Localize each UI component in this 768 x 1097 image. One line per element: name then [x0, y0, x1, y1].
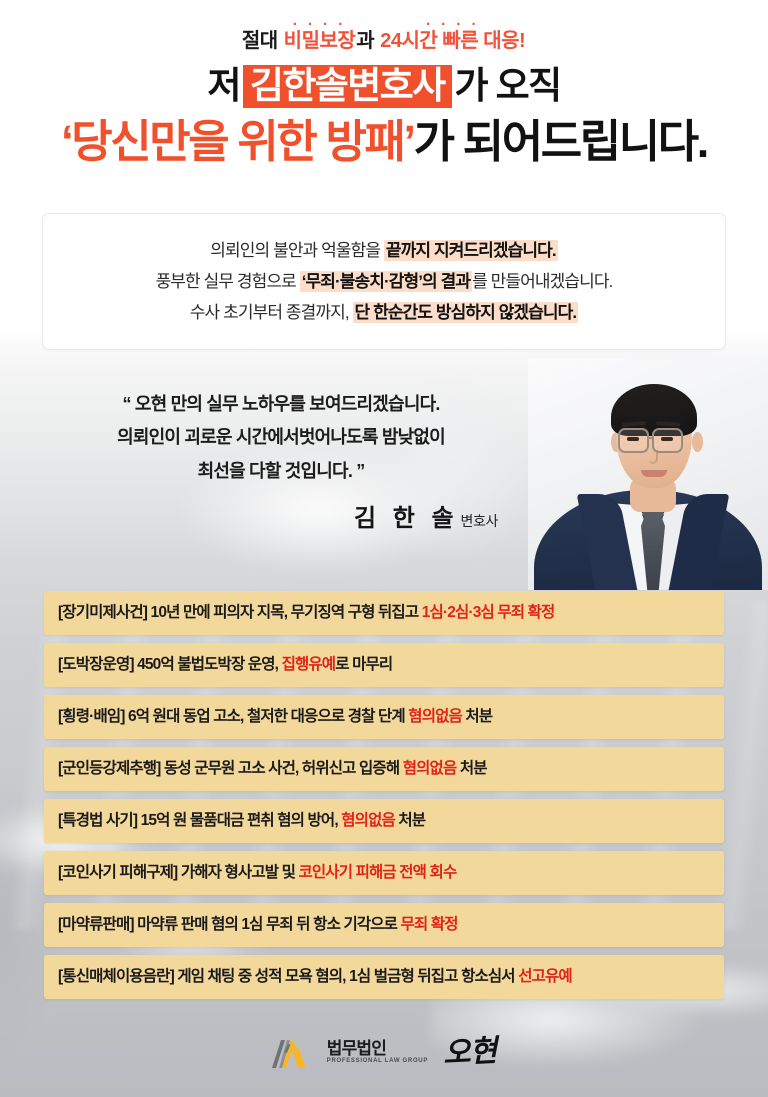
case-text: [마약류판매] 마약류 판매 혐의 1심 무죄 뒤 항소 기각으로 무죄 확정 — [58, 916, 458, 935]
kicker-tagline: 절대 비밀보장과 24시간 빠른 대응! — [0, 30, 768, 52]
quote-line-1: “ 오현 만의 실무 노하우를 보여드리겠습니다. — [46, 388, 516, 421]
case-body: 동성 군무원 고소 사건, 허위신고 입증해 — [161, 760, 403, 777]
promise-1-highlight: 끝까지 지켜드리겠습니다. — [384, 240, 558, 261]
kicker-emphasis-confidentiality: 비밀보장 — [283, 30, 357, 52]
case-result: 1심·2심·3심 무죄 확정 — [422, 604, 555, 621]
case-result: 집행유예 — [282, 656, 336, 673]
law-firm-mark-icon — [272, 1036, 316, 1070]
promise-3-highlight: 단 한순간도 방심하지 않겠습니다. — [353, 302, 579, 323]
headline-block: 절대 비밀보장과 24시간 빠른 대응! 저김한솔변호사가 오직 ‘당신만을 위… — [0, 0, 768, 167]
portrait-mouth — [641, 470, 667, 477]
promise-2-post: 를 만들어내겠습니다. — [472, 272, 612, 291]
promise-line-1: 의뢰인의 불안과 억울함을 끝까지 지켜드리겠습니다. — [210, 240, 557, 261]
case-tag: [군인등강제추행] — [58, 760, 161, 777]
case-body: 가해자 형사고발 및 — [177, 864, 298, 881]
quote-line-2: 의뢰인이 괴로운 시간에서벗어나도록 밤낮없이 — [46, 421, 516, 454]
case-row[interactable]: [도박장운영] 450억 불법도박장 운영, 집행유예로 마무리 — [44, 643, 724, 687]
lawyer-portrait-photo — [528, 358, 768, 590]
case-row[interactable]: [횡령·배임] 6억 원대 동업 고소, 철저한 대응으로 경찰 단계 혐의없음… — [44, 695, 724, 739]
promise-line-2: 풍부한 실무 경험으로 ‘무죄·불송치·감형’의 결과를 만들어내겠습니다. — [156, 271, 613, 292]
lawyer-name-chip: 김한솔변호사 — [243, 65, 452, 108]
case-tail: 로 마무리 — [335, 656, 392, 673]
promise-card: 의뢰인의 불안과 억울함을 끝까지 지켜드리겠습니다. 풍부한 실무 경험으로 … — [42, 213, 726, 350]
case-tag: [특경법 사기] — [58, 812, 137, 829]
portrait-eye-right — [661, 437, 673, 441]
case-body: 게임 채팅 중 성적 모욕 혐의, 1심 벌금형 뒤집고 항소심서 — [174, 968, 518, 985]
case-text: [특경법 사기] 15억 원 물품대금 편취 혐의 방어, 혐의없음 처분 — [58, 812, 425, 831]
case-results-list: [장기미제사건] 10년 만에 피의자 지목, 무기징역 구형 뒤집고 1심·2… — [44, 591, 724, 999]
case-body: 10년 만에 피의자 지목, 무기징역 구형 뒤집고 — [147, 604, 422, 621]
case-row[interactable]: [군인등강제추행] 동성 군무원 고소 사건, 허위신고 입증해 혐의없음 처분 — [44, 747, 724, 791]
case-body: 6억 원대 동업 고소, 철저한 대응으로 경찰 단계 — [125, 708, 409, 725]
portrait-ear-right — [692, 432, 703, 452]
promise-line-3: 수사 초기부터 종결까지, 단 한순간도 방심하지 않겠습니다. — [190, 302, 578, 323]
case-text: [통신매체이용음란] 게임 채팅 중 성적 모욕 혐의, 1심 벌금형 뒤집고 … — [58, 968, 572, 987]
promise-3-pre: 수사 초기부터 종결까지, — [190, 303, 353, 322]
kicker-emphasis-response: 24시간 빠른 대응! — [379, 30, 526, 52]
case-result: 코인사기 피해금 전액 회수 — [298, 864, 456, 881]
portrait-eye-left — [627, 437, 639, 441]
case-result: 무죄 확정 — [401, 916, 458, 933]
promise-2-highlight: ‘무죄·불송치·감형’의 결과 — [300, 271, 472, 292]
case-tag: [횡령·배임] — [58, 708, 125, 725]
promise-2-pre: 풍부한 실무 경험으로 — [156, 272, 300, 291]
case-text: [군인등강제추행] 동성 군무원 고소 사건, 허위신고 입증해 혐의없음 처분 — [58, 760, 487, 779]
case-tag: [장기미제사건] — [58, 604, 147, 621]
case-tail: 처분 — [395, 812, 425, 829]
case-row[interactable]: [마약류판매] 마약류 판매 혐의 1심 무죄 뒤 항소 기각으로 무죄 확정 — [44, 903, 724, 947]
case-text: [코인사기 피해구제] 가해자 형사고발 및 코인사기 피해금 전액 회수 — [58, 864, 456, 883]
case-row[interactable]: [장기미제사건] 10년 만에 피의자 지목, 무기징역 구형 뒤집고 1심·2… — [44, 591, 724, 635]
portrait-eyeglass-bridge — [648, 437, 654, 439]
case-tag: [통신매체이용음란] — [58, 968, 174, 985]
headline-shield-phrase: ‘당신만을 위한 방패’ — [61, 116, 413, 167]
signature-role: 변호사 — [461, 513, 498, 529]
headline-line1-prefix: 저 — [207, 65, 239, 106]
case-text: [장기미제사건] 10년 만에 피의자 지목, 무기징역 구형 뒤집고 1심·2… — [58, 604, 554, 623]
headline-line-2: ‘당신만을 위한 방패’가 되어드립니다. — [0, 117, 768, 167]
case-text: [도박장운영] 450억 불법도박장 운영, 집행유예로 마무리 — [58, 656, 392, 675]
law-firm-name-ko: 법무법인 — [327, 1040, 386, 1058]
case-tail: 처분 — [456, 760, 486, 777]
portrait-nose — [649, 450, 658, 464]
law-firm-name-en: PROFESSIONAL LAW GROUP — [327, 1057, 428, 1066]
law-firm-wordmark: 법무법인 PROFESSIONAL LAW GROUP — [327, 1040, 428, 1067]
case-result: 혐의없음 — [341, 812, 395, 829]
headline-line-1: 저김한솔변호사가 오직 — [0, 65, 768, 108]
case-row[interactable]: [통신매체이용음란] 게임 채팅 중 성적 모욕 혐의, 1심 벌금형 뒤집고 … — [44, 955, 724, 999]
kicker-mid: 과 — [356, 30, 379, 52]
case-tag: [마약류판매] — [58, 916, 134, 933]
poster-root: 절대 비밀보장과 24시간 빠른 대응! 저김한솔변호사가 오직 ‘당신만을 위… — [0, 0, 768, 1097]
lawyer-quote-block: “ 오현 만의 실무 노하우를 보여드리겠습니다. 의뢰인이 괴로운 시간에서벗… — [46, 388, 516, 533]
case-body: 450억 불법도박장 운영, — [134, 656, 282, 673]
case-result: 혐의없음 — [403, 760, 457, 777]
signature-name: 김 한 솔 — [354, 505, 459, 532]
case-text: [횡령·배임] 6억 원대 동업 고소, 철저한 대응으로 경찰 단계 혐의없음… — [58, 708, 492, 727]
case-tail: 처분 — [462, 708, 492, 725]
case-row[interactable]: [코인사기 피해구제] 가해자 형사고발 및 코인사기 피해금 전액 회수 — [44, 851, 724, 895]
footer-logo-block: 법무법인 PROFESSIONAL LAW GROUP 오현 — [0, 1036, 768, 1070]
headline-line2-suffix: 가 되어드립니다. — [414, 116, 707, 167]
case-body: 15억 원 물품대금 편취 혐의 방어, — [137, 812, 341, 829]
case-tag: [코인사기 피해구제] — [58, 864, 177, 881]
kicker-prefix: 절대 — [242, 30, 283, 52]
case-result: 선고유예 — [518, 968, 572, 985]
case-row[interactable]: [특경법 사기] 15억 원 물품대금 편취 혐의 방어, 혐의없음 처분 — [44, 799, 724, 843]
case-tag: [도박장운영] — [58, 656, 134, 673]
quote-line-3: 최선을 다할 것입니다. ” — [46, 455, 516, 488]
law-firm-brand-ohyeon: 오현 — [442, 1037, 497, 1070]
headline-line1-suffix: 가 오직 — [455, 65, 561, 106]
case-result: 혐의없음 — [408, 708, 462, 725]
promise-1-pre: 의뢰인의 불안과 억울함을 — [210, 241, 384, 260]
case-body: 마약류 판매 혐의 1심 무죄 뒤 항소 기각으로 — [134, 916, 401, 933]
quote-signature: 김 한 솔변호사 — [46, 498, 516, 533]
